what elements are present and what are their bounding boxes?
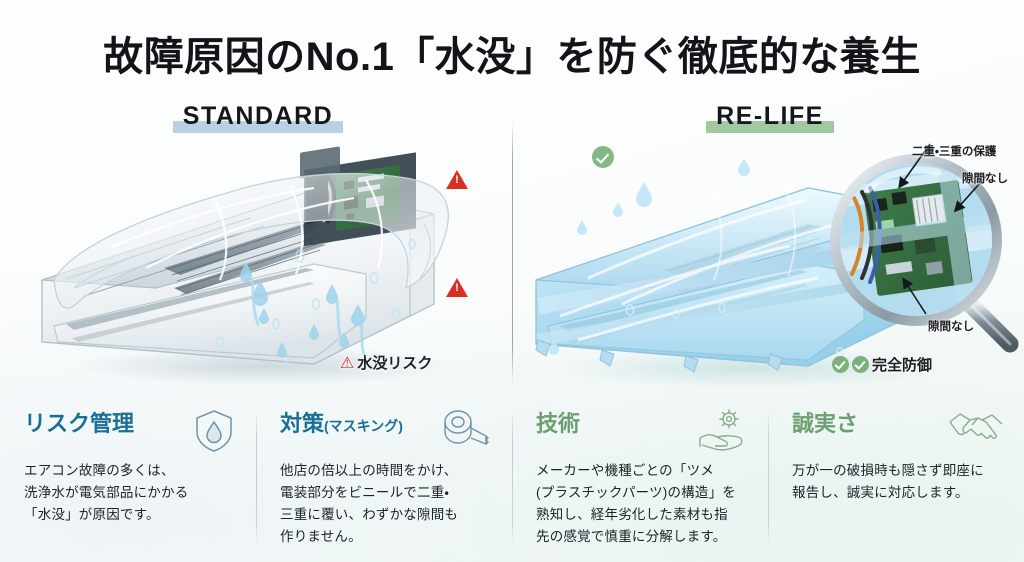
- water-damage-risk-text: 水没リスク: [357, 355, 432, 372]
- double-triple-protection-label: 二重・三重の保護: [912, 143, 996, 159]
- card-body-line: 万が一の破損時も隠さず即座に: [792, 460, 1004, 482]
- card-body-line: (プラスチックパーツ)の構造」を: [536, 482, 748, 504]
- feature-cards: リスク管理 エアコン故障の多くは、 洗浄水が電気部品にかかる 「水没」が原因です…: [0, 398, 1024, 562]
- complete-protection-text: 完全防御: [872, 357, 932, 374]
- card-body-line: メーカーや機種ごとの「ツメ: [536, 460, 748, 482]
- card-body-line: 電装部分をビニールで二重・: [280, 482, 492, 504]
- no-gap-label-top: 隙間なし: [962, 170, 1008, 186]
- infographic-stage: 故障原因のNo.1「水没」を防ぐ徹底的な養生 STANDARD RE-LIFE: [0, 0, 1024, 562]
- card-title-main: リスク管理: [24, 411, 134, 436]
- card-title-sub: (マスキング): [324, 418, 403, 434]
- feature-card-masking: 対策(マスキング) 他店の倍以上の時間をかけ、 電装部分をビニールで二重・ 三重…: [256, 398, 512, 562]
- card-body-line: 洗浄水が電気部品にかかる: [24, 482, 236, 504]
- column-divider: [512, 122, 513, 384]
- check-circle-icon-a: [832, 356, 849, 373]
- column-header-relife-label: RE-LIFE: [706, 102, 834, 132]
- card-body-line: 先の感覚で慎重に分解します。: [536, 526, 748, 548]
- page-title: 故障原因のNo.1「水没」を防ぐ徹底的な養生: [0, 24, 1024, 82]
- card-body-line: 他店の倍以上の時間をかけ、: [280, 460, 492, 482]
- feature-card-technique: 技術 メーカーや機種ごとの「ツメ: [512, 398, 768, 562]
- card-title-main: 技術: [536, 411, 580, 436]
- feature-card-risk-management: リスク管理 エアコン故障の多くは、 洗浄水が電気部品にかかる 「水没」が原因です…: [0, 398, 256, 562]
- card-body-line: 報告し、誠実に対応します。: [792, 482, 1004, 504]
- card-body: メーカーや機種ごとの「ツメ (プラスチックパーツ)の構造」を 熟知し、経年劣化し…: [536, 460, 748, 547]
- no-gap-label-bottom: 隙間なし: [928, 318, 974, 334]
- feature-card-sincerity: 誠実さ 万が一の破損時も隠さず即座に: [768, 398, 1024, 562]
- card-body-line: 「水没」が原因です。: [24, 504, 236, 526]
- complete-protection-label: 完全防御: [832, 354, 932, 375]
- card-body: 他店の倍以上の時間をかけ、 電装部分をビニールで二重・ 三重に覆い、わずかな隙間…: [280, 460, 492, 547]
- card-body-line: エアコン故障の多くは、: [24, 460, 236, 482]
- relife-illustration: [518, 128, 1024, 396]
- card-body-line: 三重に覆い、わずかな隙間も: [280, 504, 492, 526]
- card-title: 対策(マスキング): [280, 412, 403, 435]
- ac-unit-protected-svg: [518, 128, 1024, 396]
- card-title: 技術: [536, 412, 580, 435]
- handshake-icon: [948, 408, 1004, 455]
- card-body-line: 作りません。: [280, 526, 492, 548]
- warning-triangle-icon-bottom: [446, 278, 468, 297]
- column-header-standard-label: STANDARD: [173, 102, 343, 132]
- card-title: 誠実さ: [792, 412, 858, 435]
- check-circle-icon-top: [592, 146, 614, 168]
- card-header: 誠実さ: [792, 412, 1004, 452]
- water-damage-risk-label: ⚠水没リスク: [340, 352, 432, 373]
- card-title-main: 対策: [280, 411, 324, 436]
- card-header: 技術: [536, 412, 748, 452]
- hand-gear-icon: [696, 408, 748, 459]
- card-title-main: 誠実さ: [792, 411, 858, 436]
- card-body-line: 熟知し、経年劣化した素材も指: [536, 504, 748, 526]
- card-header: リスク管理: [24, 412, 236, 452]
- check-circle-icon-b: [852, 356, 869, 373]
- card-header: 対策(マスキング): [280, 412, 492, 452]
- card-body: 万が一の破損時も隠さず即座に 報告し、誠実に対応します。: [792, 460, 1004, 504]
- warning-triangle-icon-inline: ⚠: [340, 355, 354, 372]
- warning-triangle-icon-top: [446, 170, 468, 189]
- card-body: エアコン故障の多くは、 洗浄水が電気部品にかかる 「水没」が原因です。: [24, 460, 236, 526]
- tape-roll-icon: [440, 408, 492, 457]
- shield-droplet-icon: [192, 408, 236, 459]
- card-title: リスク管理: [24, 412, 134, 435]
